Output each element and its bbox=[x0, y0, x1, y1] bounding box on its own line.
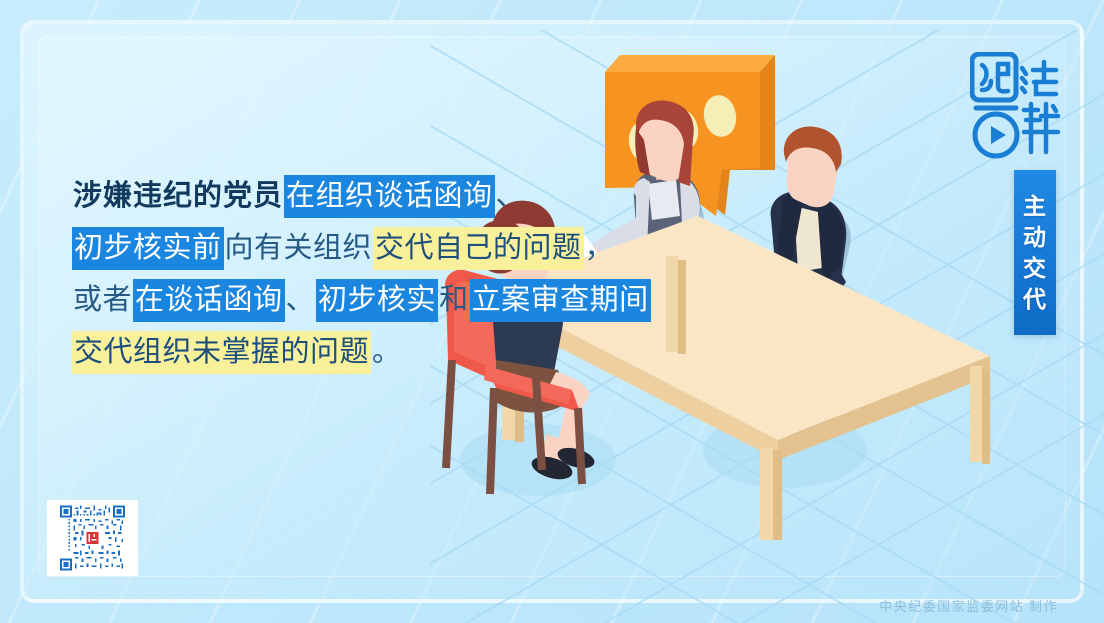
text-line-2: 初步核实前向有关组织交代自己的问题， bbox=[72, 222, 632, 274]
highlight-yellow-segment: 交代自己的问题 bbox=[373, 227, 584, 270]
brand-logo bbox=[970, 52, 1062, 172]
highlight-blue-segment: 初步核实 bbox=[316, 279, 438, 322]
text-line-4: 交代组织未掌握的问题。 bbox=[72, 326, 632, 378]
text-segment: 。 bbox=[371, 332, 403, 373]
ribbon-char: 动 bbox=[1023, 226, 1047, 249]
highlight-blue-segment: 立案审查期间 bbox=[470, 279, 651, 322]
highlight-blue-segment: 在组织谈话函询 bbox=[284, 175, 495, 218]
text-segment: ， bbox=[584, 228, 616, 269]
text-line-1: 涉嫌违纪的党员在组织谈话函询、 bbox=[72, 170, 632, 222]
text-segment: 或者 bbox=[72, 280, 133, 321]
highlight-blue-segment: 在谈话函询 bbox=[133, 279, 285, 322]
ribbon-char: 主 bbox=[1023, 195, 1047, 218]
text-segment: 向有关组织 bbox=[224, 228, 374, 269]
credit-text: 中央纪委国家监委网站 制作 bbox=[879, 596, 1058, 615]
text-segment: 、 bbox=[285, 280, 317, 321]
body-text-block: 涉嫌违纪的党员在组织谈话函询、 初步核实前向有关组织交代自己的问题， 或者在谈话… bbox=[72, 170, 632, 378]
text-segment: 和 bbox=[438, 280, 470, 321]
highlight-yellow-segment: 交代组织未掌握的问题 bbox=[72, 331, 371, 374]
text-segment: 涉嫌违纪的党员 bbox=[72, 176, 284, 217]
infographic-poster: 涉嫌违纪的党员在组织谈话函询、 初步核实前向有关组织交代自己的问题， 或者在谈话… bbox=[0, 0, 1104, 623]
ribbon-char: 代 bbox=[1023, 288, 1047, 311]
text-segment: 、 bbox=[495, 176, 527, 217]
text-line-3: 或者在谈话函询、初步核实和立案审查期间 bbox=[72, 274, 632, 326]
category-ribbon: 主 动 交 代 bbox=[1014, 170, 1056, 335]
qr-code[interactable] bbox=[47, 500, 138, 576]
ribbon-char: 交 bbox=[1023, 257, 1047, 280]
highlight-blue-segment: 初步核实前 bbox=[72, 227, 224, 270]
